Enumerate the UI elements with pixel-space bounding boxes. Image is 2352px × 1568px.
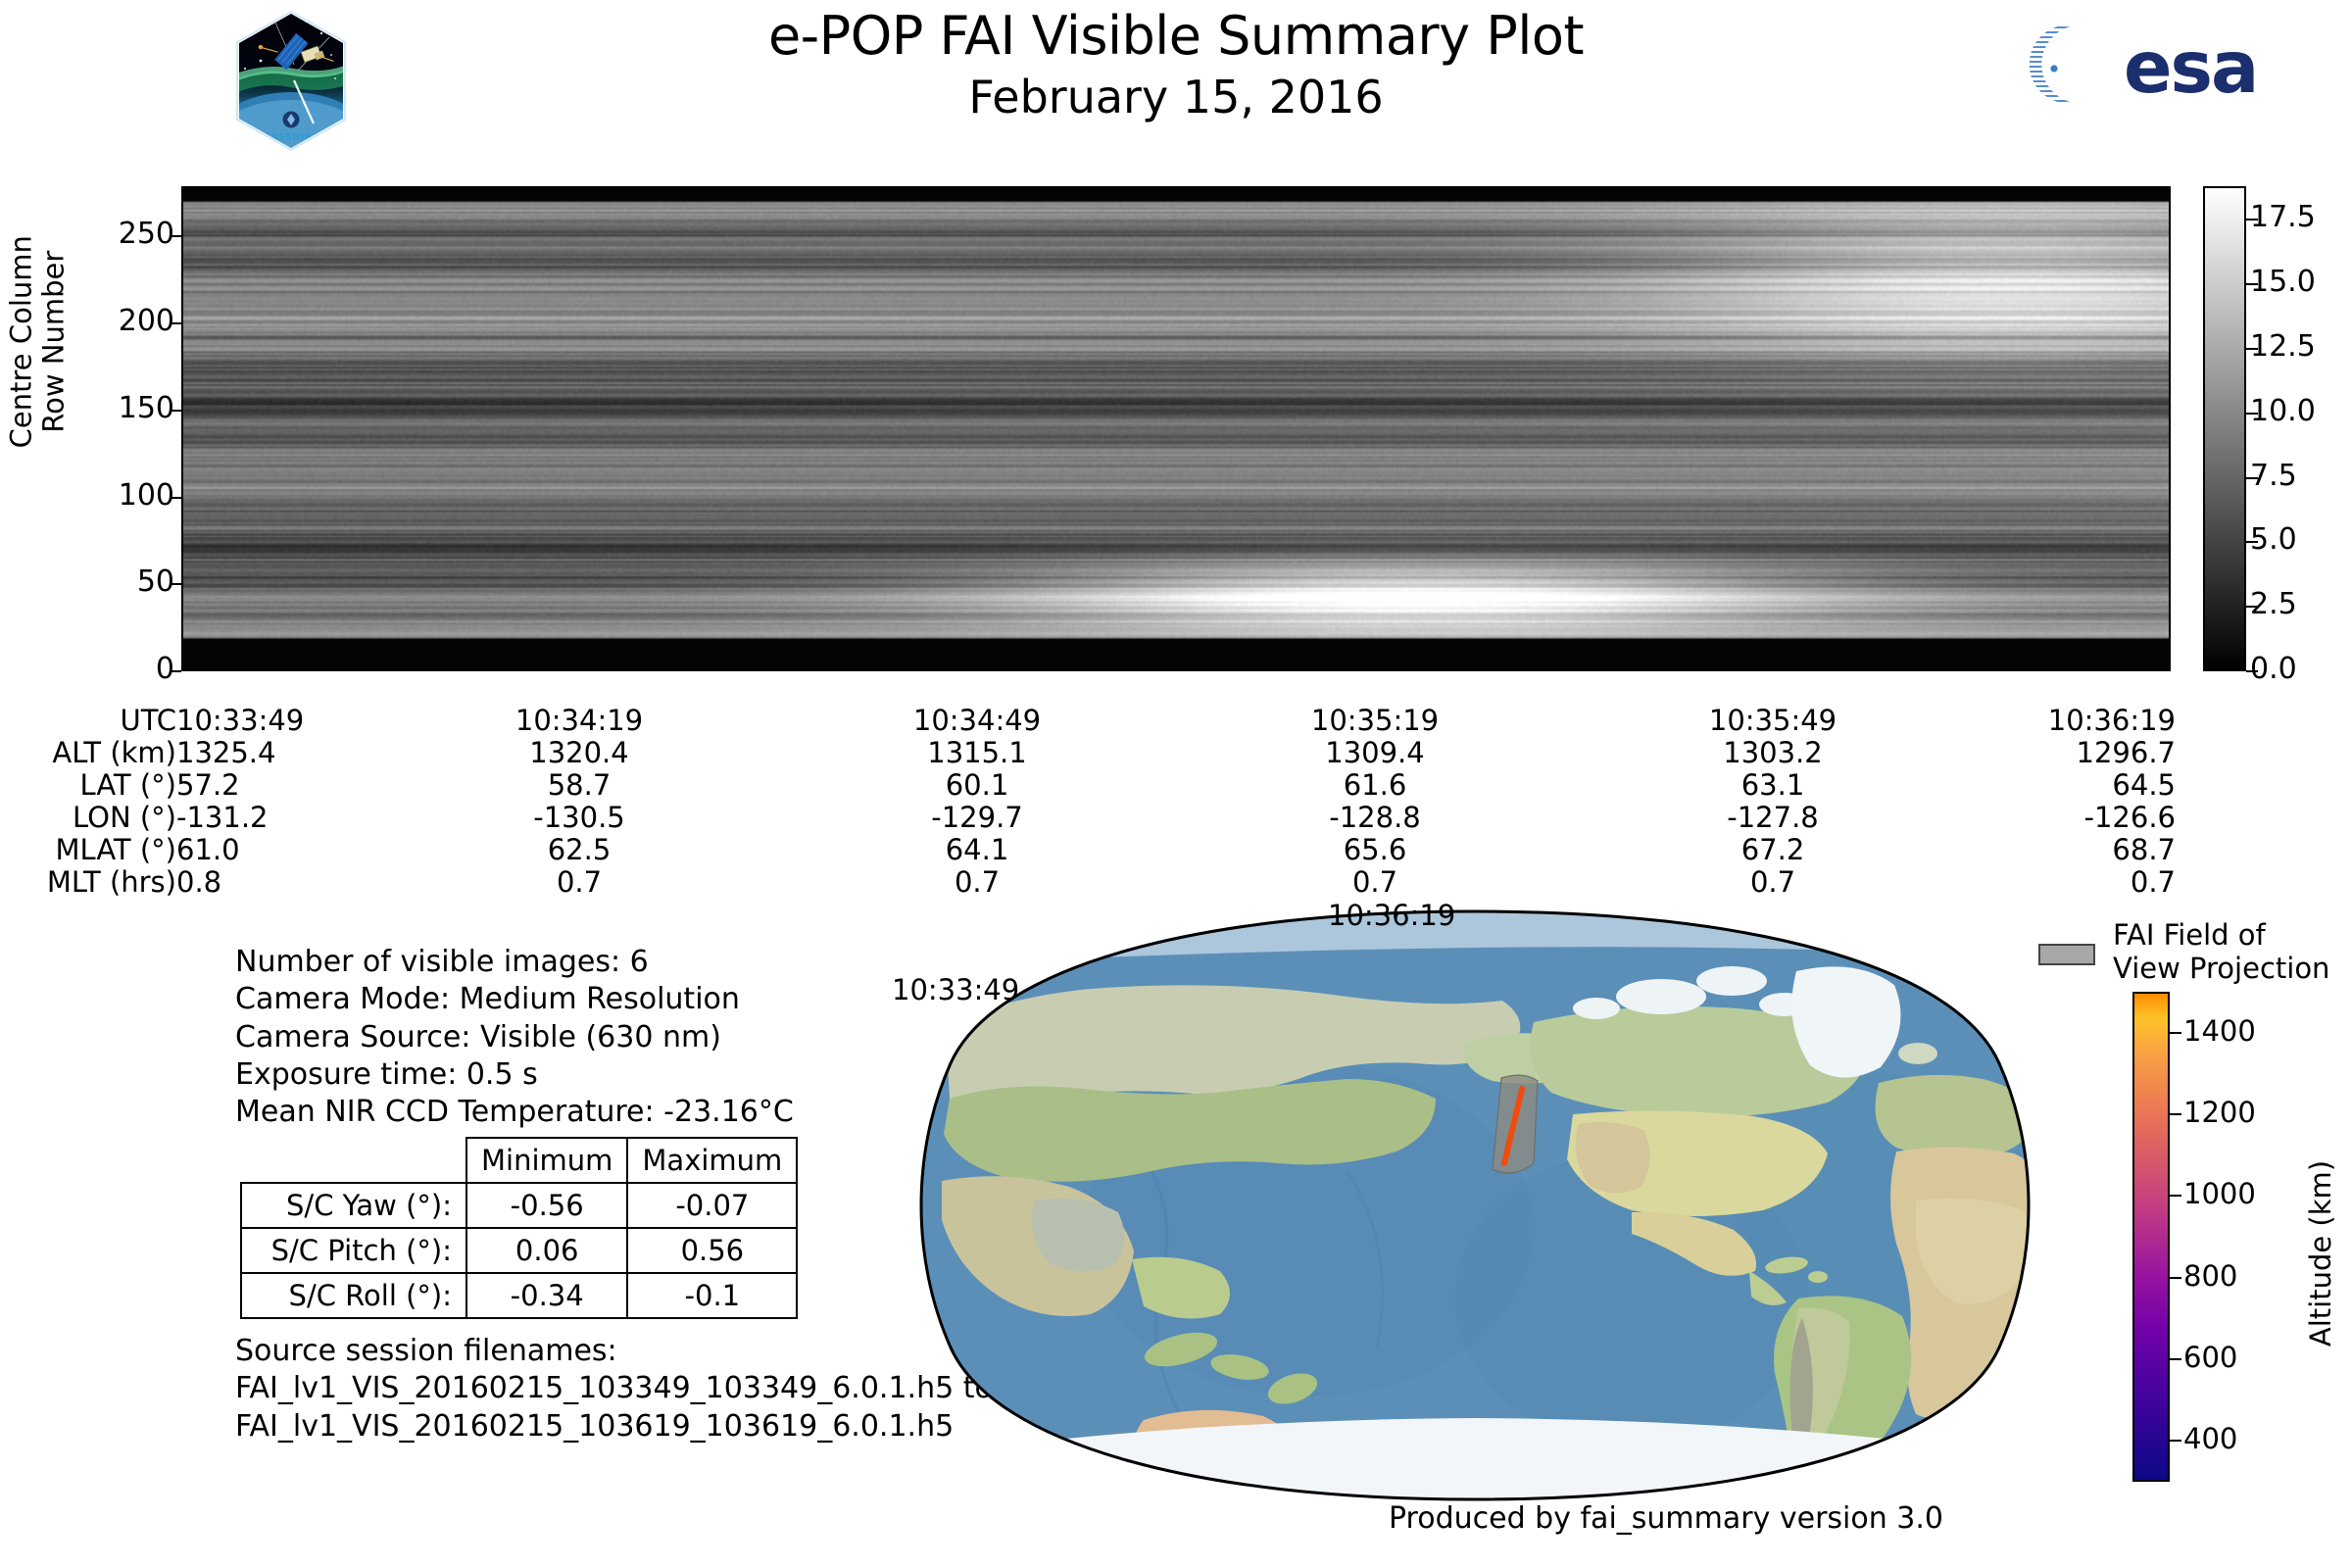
sc-yaw-max: -0.07	[627, 1183, 797, 1228]
ephemeris-cell: -128.8	[1267, 801, 1483, 834]
page-title: e-POP FAI Visible Summary Plot	[588, 8, 1764, 65]
ephemeris-cell: 60.1	[869, 768, 1085, 802]
signal-colorbar-tick-label: 10.0	[2250, 394, 2316, 428]
ephemeris-cell: 67.2	[1665, 833, 1881, 866]
altitude-colorbar-label: Altitude (km)	[2304, 1038, 2337, 1469]
sc-table-col-minimum: Minimum	[466, 1138, 627, 1183]
keogram-y-tick-mark	[170, 497, 181, 499]
sc-roll-min: -0.34	[466, 1273, 627, 1318]
ephemeris-cell: -131.2	[176, 801, 392, 834]
signal-colorbar	[2203, 186, 2246, 671]
altitude-colorbar	[2132, 992, 2170, 1482]
ephemeris-cell: 10:35:49	[1665, 704, 1881, 737]
ephemeris-cell: -127.8	[1665, 801, 1881, 834]
ephemeris-cell: 10:35:19	[1267, 704, 1483, 737]
ephemeris-row: ALT (km)1325.41320.41315.11309.41303.212…	[0, 736, 2244, 768]
altitude-colorbar-tick-mark	[2170, 1358, 2181, 1360]
keogram-y-tick-label: 50	[137, 564, 174, 599]
keogram-y-tick-label: 0	[156, 652, 174, 686]
ephemeris-row-label: UTC	[0, 704, 176, 737]
keogram-y-tick-label: 250	[119, 217, 174, 251]
signal-colorbar-tick-mark	[2246, 606, 2258, 608]
ephemeris-cell: 10:34:19	[471, 704, 687, 737]
keogram-image	[183, 188, 2169, 669]
ephemeris-cell: 57.2	[176, 768, 392, 802]
map-label-start-time: 10:33:49	[892, 973, 1019, 1006]
keogram-y-axis-label: Visible CameraCentre ColumnRow Number	[0, 68, 70, 616]
ephemeris-row: MLT (hrs)0.80.70.70.70.70.7	[0, 865, 2244, 898]
keogram-y-tick-label: 150	[119, 391, 174, 425]
sc-yaw-min: -0.56	[466, 1183, 627, 1228]
signal-colorbar-tick-mark	[2246, 670, 2258, 672]
map-label-end-time: 10:36:19	[1328, 899, 1455, 932]
keogram-y-tick-label: 200	[119, 304, 174, 338]
sc-roll-max: -0.1	[627, 1273, 797, 1318]
ephemeris-cell: 64.1	[869, 833, 1085, 866]
filename-last: FAI_lv1_VIS_20160215_103619_103619_6.0.1…	[235, 1408, 993, 1445]
keogram-plot	[181, 186, 2171, 671]
ephemeris-cell: 64.5	[1960, 768, 2176, 802]
signal-colorbar-tick-mark	[2246, 477, 2258, 479]
ephemeris-cell: 63.1	[1665, 768, 1881, 802]
fov-legend-swatch	[2038, 944, 2095, 965]
signal-colorbar-tick-label: 12.5	[2250, 329, 2316, 364]
svg-text:CASSIOPE: CASSIOPE	[263, 132, 318, 143]
ephemeris-cell: 68.7	[1960, 833, 2176, 866]
ephemeris-cell: 0.7	[1960, 865, 2176, 899]
keogram-y-tick-mark	[170, 235, 181, 237]
signal-colorbar-tick-label: 15.0	[2250, 265, 2316, 299]
ephemeris-row: UTC10:33:4910:34:1910:34:4910:35:1910:35…	[0, 704, 2244, 736]
page-subtitle-date: February 15, 2016	[588, 71, 1764, 123]
producer-credit: Produced by fai_summary version 3.0	[1176, 1501, 2156, 1536]
ephemeris-cell: 1309.4	[1267, 736, 1483, 769]
ephemeris-cell: 1303.2	[1665, 736, 1881, 769]
signal-colorbar-tick-mark	[2246, 348, 2258, 350]
keogram-y-tick-mark	[170, 322, 181, 324]
ephemeris-row-label: MLT (hrs)	[0, 865, 176, 899]
ephemeris-table: UTC10:33:4910:34:1910:34:4910:35:1910:35…	[0, 704, 2244, 898]
signal-colorbar-tick-mark	[2246, 413, 2258, 415]
keogram-y-tick-mark	[170, 670, 181, 672]
info-camera-mode: Camera Mode: Medium Resolution	[235, 981, 794, 1018]
ephemeris-cell: 62.5	[471, 833, 687, 866]
spacecraft-attitude-table: Minimum Maximum S/C Yaw (°): -0.56 -0.07…	[240, 1137, 798, 1319]
signal-colorbar-tick-label: 5.0	[2250, 522, 2297, 557]
ephemeris-cell: 0.7	[471, 865, 687, 899]
info-exposure-time: Exposure time: 0.5 s	[235, 1056, 794, 1094]
world-map-panel: 10:36:19 10:33:49	[887, 906, 2063, 1504]
altitude-colorbar-tick-mark	[2170, 1032, 2181, 1034]
svg-text:esa: esa	[2124, 26, 2257, 110]
table-header-row: Minimum Maximum	[241, 1138, 797, 1183]
filename-first: FAI_lv1_VIS_20160215_103349_103349_6.0.1…	[235, 1370, 993, 1407]
altitude-colorbar-tick-mark	[2170, 1195, 2181, 1197]
ephemeris-cell: 0.8	[176, 865, 392, 899]
sc-pitch-min: 0.06	[466, 1228, 627, 1273]
keogram-y-tick-mark	[170, 410, 181, 412]
signal-colorbar-tick-label: 17.5	[2250, 200, 2316, 234]
ephemeris-cell: 0.7	[1267, 865, 1483, 899]
ephemeris-cell: -126.6	[1960, 801, 2176, 834]
table-row: S/C Roll (°): -0.34 -0.1	[241, 1273, 797, 1318]
altitude-colorbar-tick-label: 800	[2183, 1259, 2237, 1293]
table-row: S/C Yaw (°): -0.56 -0.07	[241, 1183, 797, 1228]
cassiope-logo-icon: CASSIOPE	[233, 10, 349, 152]
ephemeris-cell: 0.7	[1665, 865, 1881, 899]
ephemeris-cell: -129.7	[869, 801, 1085, 834]
keogram-y-tick-label: 100	[119, 478, 174, 513]
ephemeris-cell: 10:33:49	[176, 704, 392, 737]
ephemeris-cell: 10:34:49	[869, 704, 1085, 737]
info-camera-source: Camera Source: Visible (630 nm)	[235, 1019, 794, 1056]
keogram-y-tick-mark	[170, 583, 181, 585]
esa-logo-icon: esa	[2014, 18, 2308, 111]
ephemeris-row-label: LON (°)	[0, 801, 176, 834]
ephemeris-cell: 61.6	[1267, 768, 1483, 802]
sc-yaw-label: S/C Yaw (°):	[241, 1183, 466, 1228]
altitude-colorbar-tick-mark	[2170, 1277, 2181, 1279]
source-filenames-block: Source session filenames: FAI_lv1_VIS_20…	[235, 1333, 993, 1445]
filenames-heading: Source session filenames:	[235, 1333, 993, 1370]
fov-legend-label: FAI Field ofView Projection	[2113, 919, 2329, 985]
ephemeris-row-label: LAT (°)	[0, 768, 176, 802]
signal-colorbar-tick-mark	[2246, 219, 2258, 220]
altitude-colorbar-tick-mark	[2170, 1113, 2181, 1115]
altitude-colorbar-tick-mark	[2170, 1440, 2181, 1442]
ephemeris-cell: 1320.4	[471, 736, 687, 769]
altitude-colorbar-tick-label: 1200	[2183, 1096, 2256, 1129]
signal-colorbar-tick-label: 7.5	[2250, 459, 2297, 493]
ephemeris-cell: 0.7	[869, 865, 1085, 899]
table-row: S/C Pitch (°): 0.06 0.56	[241, 1228, 797, 1273]
acquisition-info-block: Number of visible images: 6 Camera Mode:…	[235, 944, 794, 1131]
ephemeris-cell: -130.5	[471, 801, 687, 834]
signal-colorbar-tick-label: 2.5	[2250, 587, 2297, 621]
ephemeris-cell: 1296.7	[1960, 736, 2176, 769]
sc-pitch-label: S/C Pitch (°):	[241, 1228, 466, 1273]
altitude-colorbar-tick-label: 1000	[2183, 1177, 2256, 1210]
ephemeris-cell: 1325.4	[176, 736, 392, 769]
ephemeris-row: MLAT (°)61.062.564.165.667.268.7	[0, 833, 2244, 865]
altitude-colorbar-tick-label: 600	[2183, 1341, 2237, 1374]
altitude-colorbar-tick-label: 1400	[2183, 1014, 2256, 1048]
sc-roll-label: S/C Roll (°):	[241, 1273, 466, 1318]
info-ccd-temperature: Mean NIR CCD Temperature: -23.16°C	[235, 1094, 794, 1131]
ephemeris-row-label: MLAT (°)	[0, 833, 176, 866]
info-number-of-images: Number of visible images: 6	[235, 944, 794, 981]
sc-table-corner	[241, 1138, 466, 1183]
sc-pitch-max: 0.56	[627, 1228, 797, 1273]
ephemeris-cell: 1315.1	[869, 736, 1085, 769]
ephemeris-cell: 61.0	[176, 833, 392, 866]
signal-colorbar-tick-mark	[2246, 541, 2258, 543]
ephemeris-cell: 10:36:19	[1960, 704, 2176, 737]
ephemeris-row: LON (°)-131.2-130.5-129.7-128.8-127.8-12…	[0, 801, 2244, 833]
ephemeris-cell: 58.7	[471, 768, 687, 802]
sc-table-col-maximum: Maximum	[627, 1138, 797, 1183]
ephemeris-cell: 65.6	[1267, 833, 1483, 866]
ephemeris-row: LAT (°)57.258.760.161.663.164.5	[0, 768, 2244, 801]
signal-colorbar-tick-label: 0.0	[2250, 652, 2297, 686]
signal-colorbar-tick-mark	[2246, 283, 2258, 285]
ephemeris-row-label: ALT (km)	[0, 736, 176, 769]
altitude-colorbar-tick-label: 400	[2183, 1422, 2237, 1455]
